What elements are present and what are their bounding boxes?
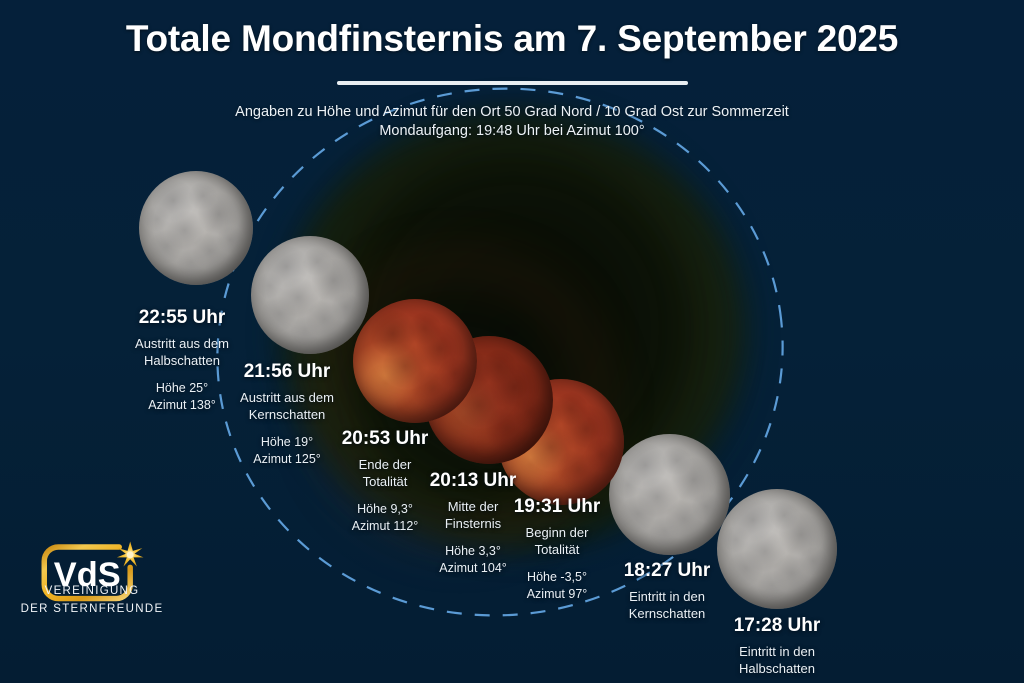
phase-label-1728: 17:28 Uhr Eintritt in denHalbschatten (702, 615, 852, 677)
phase-description: Austritt aus demKernschatten (212, 390, 362, 423)
subtitle-location: Angaben zu Höhe und Azimut für den Ort 5… (0, 104, 1024, 120)
subtitle-moonrise: Mondaufgang: 19:48 Uhr bei Azimut 100° (0, 123, 1024, 139)
crater-texture (139, 171, 253, 285)
crater-texture (353, 299, 477, 423)
moon-disc-2156 (251, 236, 369, 354)
vds-caption-line-2: DER STERNFREUNDE (12, 603, 172, 615)
phase-time: 22:55 Uhr (107, 307, 257, 329)
phase-time: 19:31 Uhr (482, 496, 632, 518)
phase-time: 21:56 Uhr (212, 361, 362, 383)
infographic-canvas: Totale Mondfinsternis am 7. September 20… (0, 0, 1024, 683)
crater-texture (251, 236, 369, 354)
vds-logo-mark: VdS (38, 533, 163, 611)
title-divider (337, 81, 688, 85)
phase-time: 18:27 Uhr (592, 560, 742, 582)
phase-time: 20:13 Uhr (398, 470, 548, 492)
vds-caption-line-1: VEREINIGUNG (12, 585, 172, 597)
phase-description: Beginn derTotalität (482, 525, 632, 558)
phase-label-1827: 18:27 Uhr Eintritt in denKernschatten (592, 560, 742, 622)
phase-time: 20:53 Uhr (310, 428, 460, 450)
page-title: Totale Mondfinsternis am 7. September 20… (0, 18, 1024, 60)
moon-disc-2053 (353, 299, 477, 423)
phase-time: 17:28 Uhr (702, 615, 852, 637)
moon-disc-2255 (139, 171, 253, 285)
phase-description: Eintritt in denHalbschatten (702, 644, 852, 677)
